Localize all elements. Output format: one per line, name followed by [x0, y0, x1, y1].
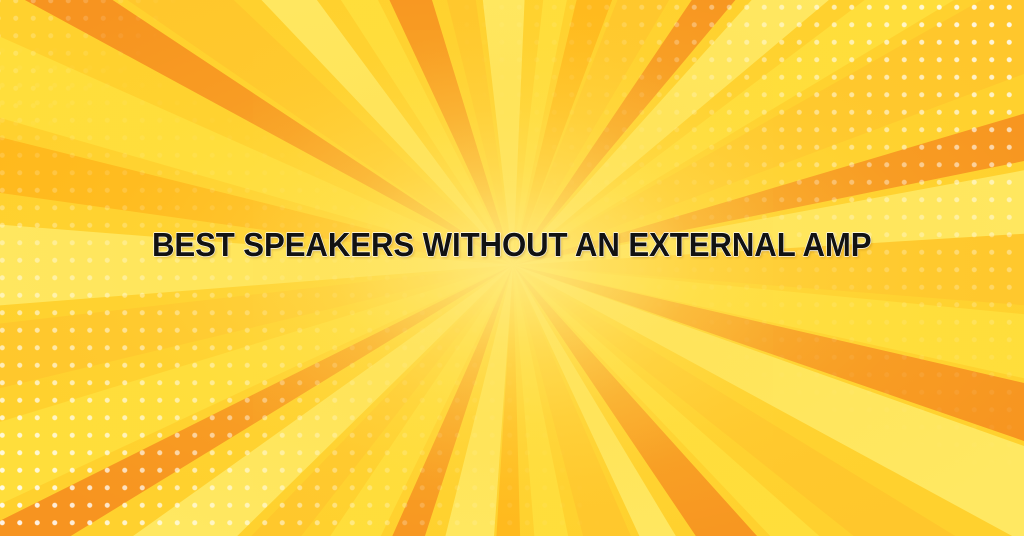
sunburst-rays: [0, 0, 1024, 536]
sunburst-banner: BEST SPEAKERS WITHOUT AN EXTERNAL AMP: [0, 0, 1024, 536]
